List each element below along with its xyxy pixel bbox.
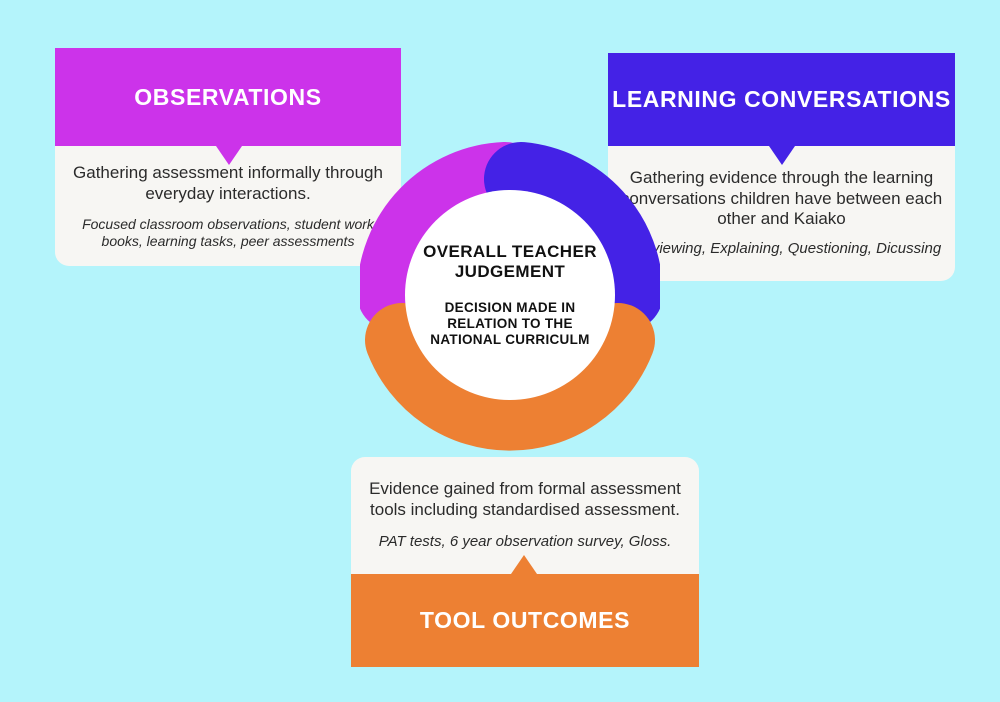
card-observations-pointer-icon (216, 146, 242, 165)
card-observations: Gathering assessment informally through … (55, 48, 401, 266)
card-learning-conversations-header: LEARNING CONVERSATIONS (608, 53, 955, 146)
card-tool-outcomes-title: TOOL OUTCOMES (420, 607, 630, 634)
center-circle-subtitle: DECISION MADE IN RELATION TO THE NATIONA… (405, 300, 615, 349)
center-circle-title: OVERALL TEACHER JUDGEMENT (405, 242, 615, 282)
card-learning-conversations-title: LEARNING CONVERSATIONS (612, 86, 951, 113)
card-tool-outcomes-examples: PAT tests, 6 year observation survey, Gl… (363, 533, 687, 551)
card-observations-description: Gathering assessment informally through … (67, 163, 389, 204)
card-learning-conversations-body: Gathering evidence through the learning … (608, 146, 955, 281)
card-tool-outcomes: Evidence gained from formal assessment t… (351, 457, 699, 667)
card-observations-title: OBSERVATIONS (134, 84, 321, 111)
card-learning-conversations-description: Gathering evidence through the learning … (620, 168, 943, 230)
card-learning-conversations: Gathering evidence through the learning … (608, 53, 955, 281)
card-tool-outcomes-header: TOOL OUTCOMES (351, 574, 699, 667)
diagram-canvas: Gathering assessment informally through … (0, 0, 1000, 702)
card-learning-conversations-examples: Interviewing, Explaining, Questioning, D… (620, 240, 943, 258)
card-observations-examples: Focused classroom observations, student … (67, 216, 389, 250)
card-tool-outcomes-pointer-icon (511, 555, 537, 574)
card-observations-header: OBSERVATIONS (55, 48, 401, 146)
center-circle: OVERALL TEACHER JUDGEMENT DECISION MADE … (405, 190, 615, 400)
card-tool-outcomes-description: Evidence gained from formal assessment t… (363, 479, 687, 520)
card-learning-conversations-pointer-icon (769, 146, 795, 165)
